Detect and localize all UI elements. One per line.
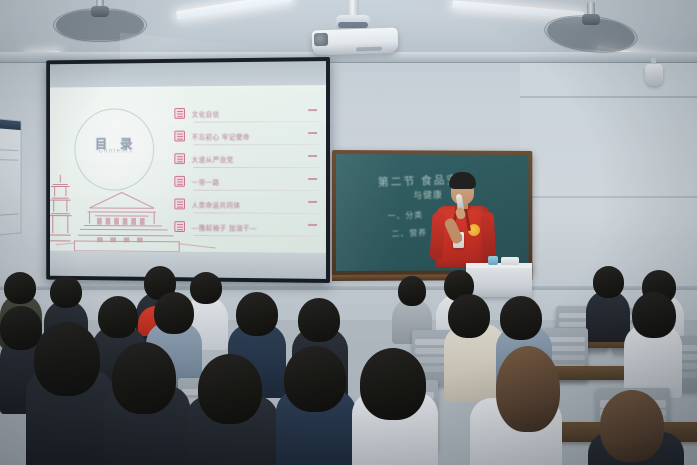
- student-head: [34, 322, 100, 396]
- toc-rule: [194, 144, 319, 145]
- notice-board-line: [0, 149, 18, 151]
- toc-dash: [308, 178, 317, 180]
- seated-students: [0, 250, 697, 465]
- ceiling-fan-left: [52, 0, 148, 42]
- toc-dash: [308, 224, 317, 226]
- toc-dash: [308, 132, 317, 134]
- pagoda-line-art: [50, 175, 73, 243]
- presenter-hair: [449, 172, 476, 189]
- student-head: [236, 292, 278, 336]
- projector-lens: [314, 33, 328, 46]
- student-head: [154, 292, 194, 334]
- toc-item-label: 文化自信: [192, 108, 220, 118]
- student-head: [496, 346, 560, 432]
- wall-speaker: [645, 64, 663, 86]
- ceiling-fan-right: [543, 2, 639, 52]
- fan-hub: [582, 14, 600, 25]
- book-icon: [174, 108, 185, 119]
- student-head: [198, 354, 262, 424]
- slide-subtitle: Contents: [87, 148, 146, 154]
- student-head: [600, 390, 664, 462]
- toc-item: 不忘初心 牢记使命: [174, 124, 319, 147]
- student-head: [4, 272, 36, 304]
- student-head: [50, 276, 82, 308]
- toc-item-label: 大道从严治党: [192, 154, 234, 164]
- student-head: [284, 346, 346, 412]
- toc-rule: [194, 121, 319, 123]
- left-wall-notice-board: [0, 118, 21, 236]
- student-head: [632, 292, 676, 338]
- student-head: [448, 294, 490, 338]
- chalk-line-1: 一、分类: [387, 209, 423, 221]
- toc-dash: [308, 201, 317, 203]
- fan-hub: [91, 6, 109, 17]
- book-icon: [174, 131, 185, 142]
- toc-item: 文化自信: [174, 101, 319, 125]
- screen-surface: 目 录 Contents 文化自信 不忘初心 牢记使命: [50, 61, 326, 279]
- toc-dash: [308, 109, 317, 111]
- student-head: [190, 272, 222, 304]
- student-head: [98, 296, 138, 338]
- notice-board-header: [0, 119, 21, 130]
- tiananmen-line-art: [56, 175, 216, 253]
- screen-top-band: [50, 61, 326, 88]
- notice-board-line: [0, 159, 18, 161]
- book-icon: [174, 153, 185, 164]
- toc-rule: [194, 167, 319, 168]
- student-head: [500, 296, 542, 340]
- notice-board-line: [0, 214, 18, 216]
- chalk-line-2: 二、营养: [391, 227, 427, 239]
- classroom-scene: 目 录 Contents 文化自信 不忘初心 牢记使命: [0, 0, 697, 465]
- student-head: [360, 348, 426, 420]
- projected-slide: 目 录 Contents 文化自信 不忘初心 牢记使命: [50, 85, 326, 253]
- student-head: [398, 276, 426, 306]
- toc-dash: [308, 155, 317, 157]
- student-head: [298, 298, 340, 342]
- wall-seam: [520, 196, 697, 198]
- toc-item-label: 不忘初心 牢记使命: [192, 131, 250, 141]
- student-head: [593, 266, 624, 298]
- student-head: [112, 342, 176, 414]
- wall-seam: [520, 96, 697, 98]
- projector-mount-bracket: [338, 22, 368, 28]
- toc-item: 大道从严治党: [174, 147, 319, 170]
